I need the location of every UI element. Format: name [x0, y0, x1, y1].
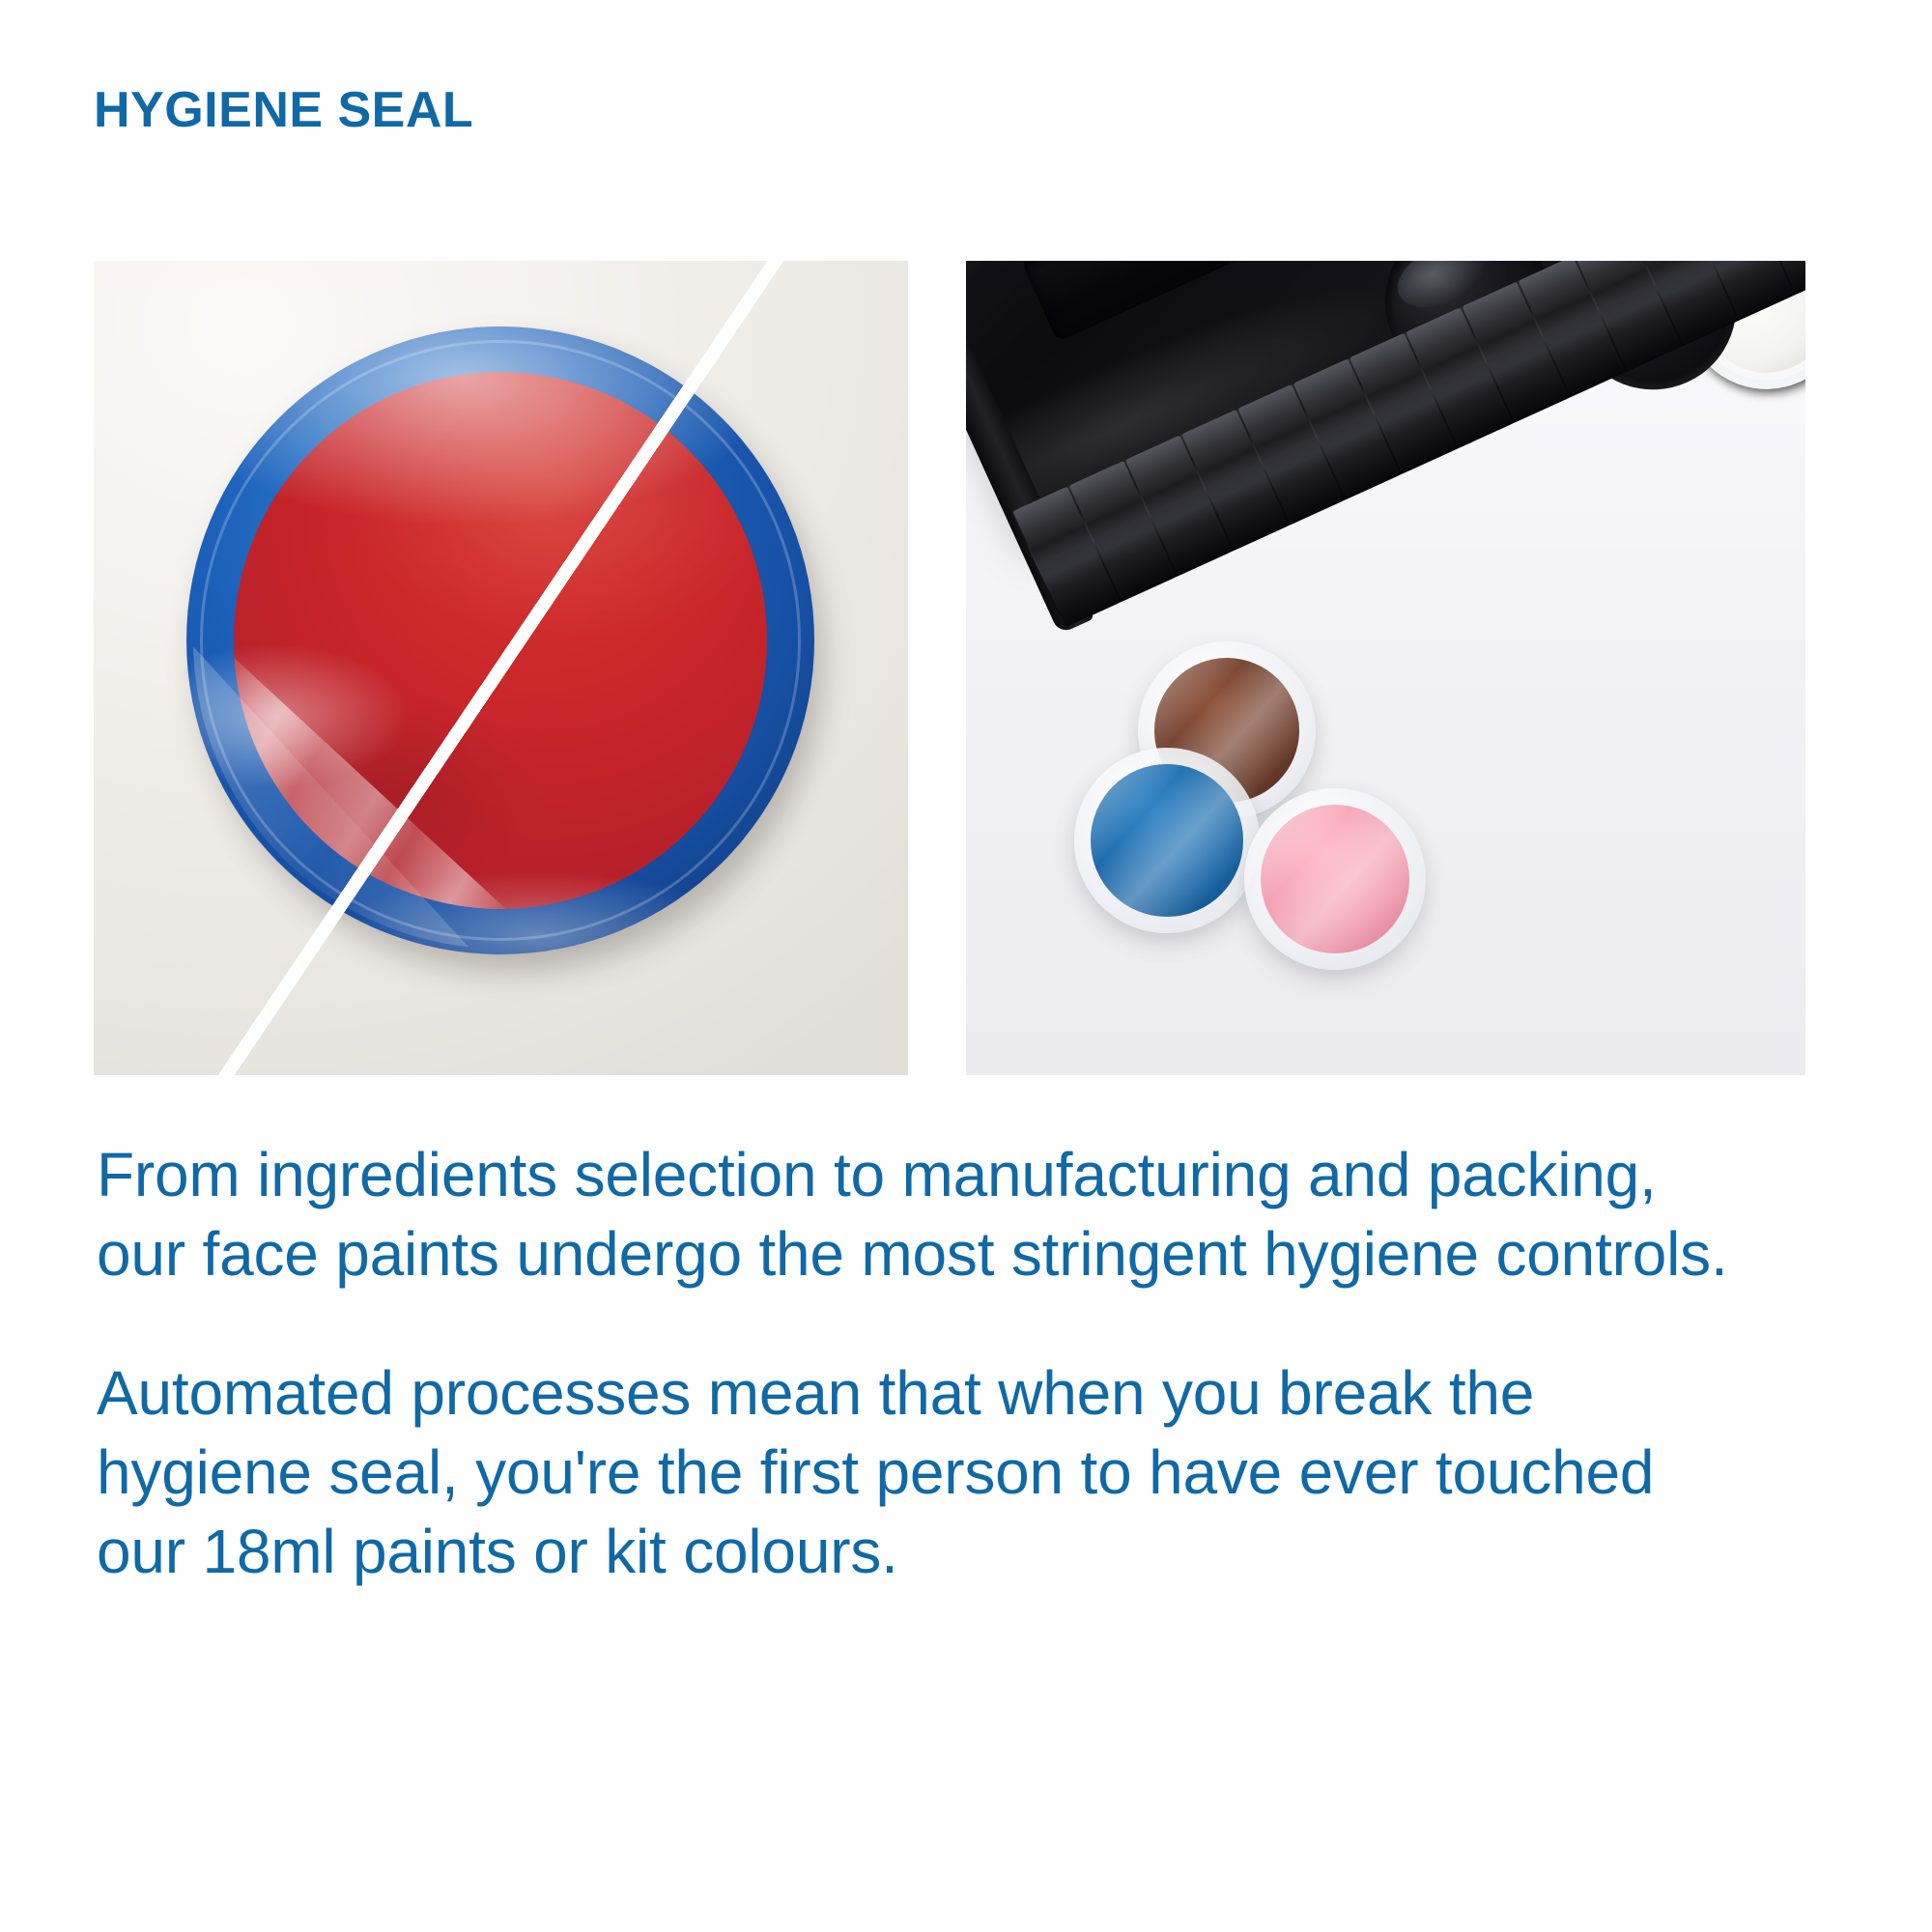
diagonal-comparison-divider [94, 261, 908, 1075]
body-paragraph-2: Automated processes mean that when you b… [97, 1354, 1719, 1592]
body-paragraph-1: From ingredients selection to manufactur… [97, 1136, 1739, 1294]
page-title: HYGIENE SEAL [94, 85, 473, 135]
disc-seal-gloss [1091, 764, 1242, 916]
black-palette-tray-photo [966, 261, 1805, 1075]
disc-seal-gloss [1261, 805, 1409, 953]
body-copy: From ingredients selection to manufactur… [97, 1136, 1797, 1592]
figure-row [94, 261, 1805, 1075]
sealed-disc-pink [1244, 788, 1426, 970]
sealed-red-paint-pot-comparison-photo [94, 261, 908, 1075]
sealed-disc-blue [1074, 748, 1260, 933]
hygiene-seal-infographic: HYGIENE SEAL [0, 0, 1932, 1932]
